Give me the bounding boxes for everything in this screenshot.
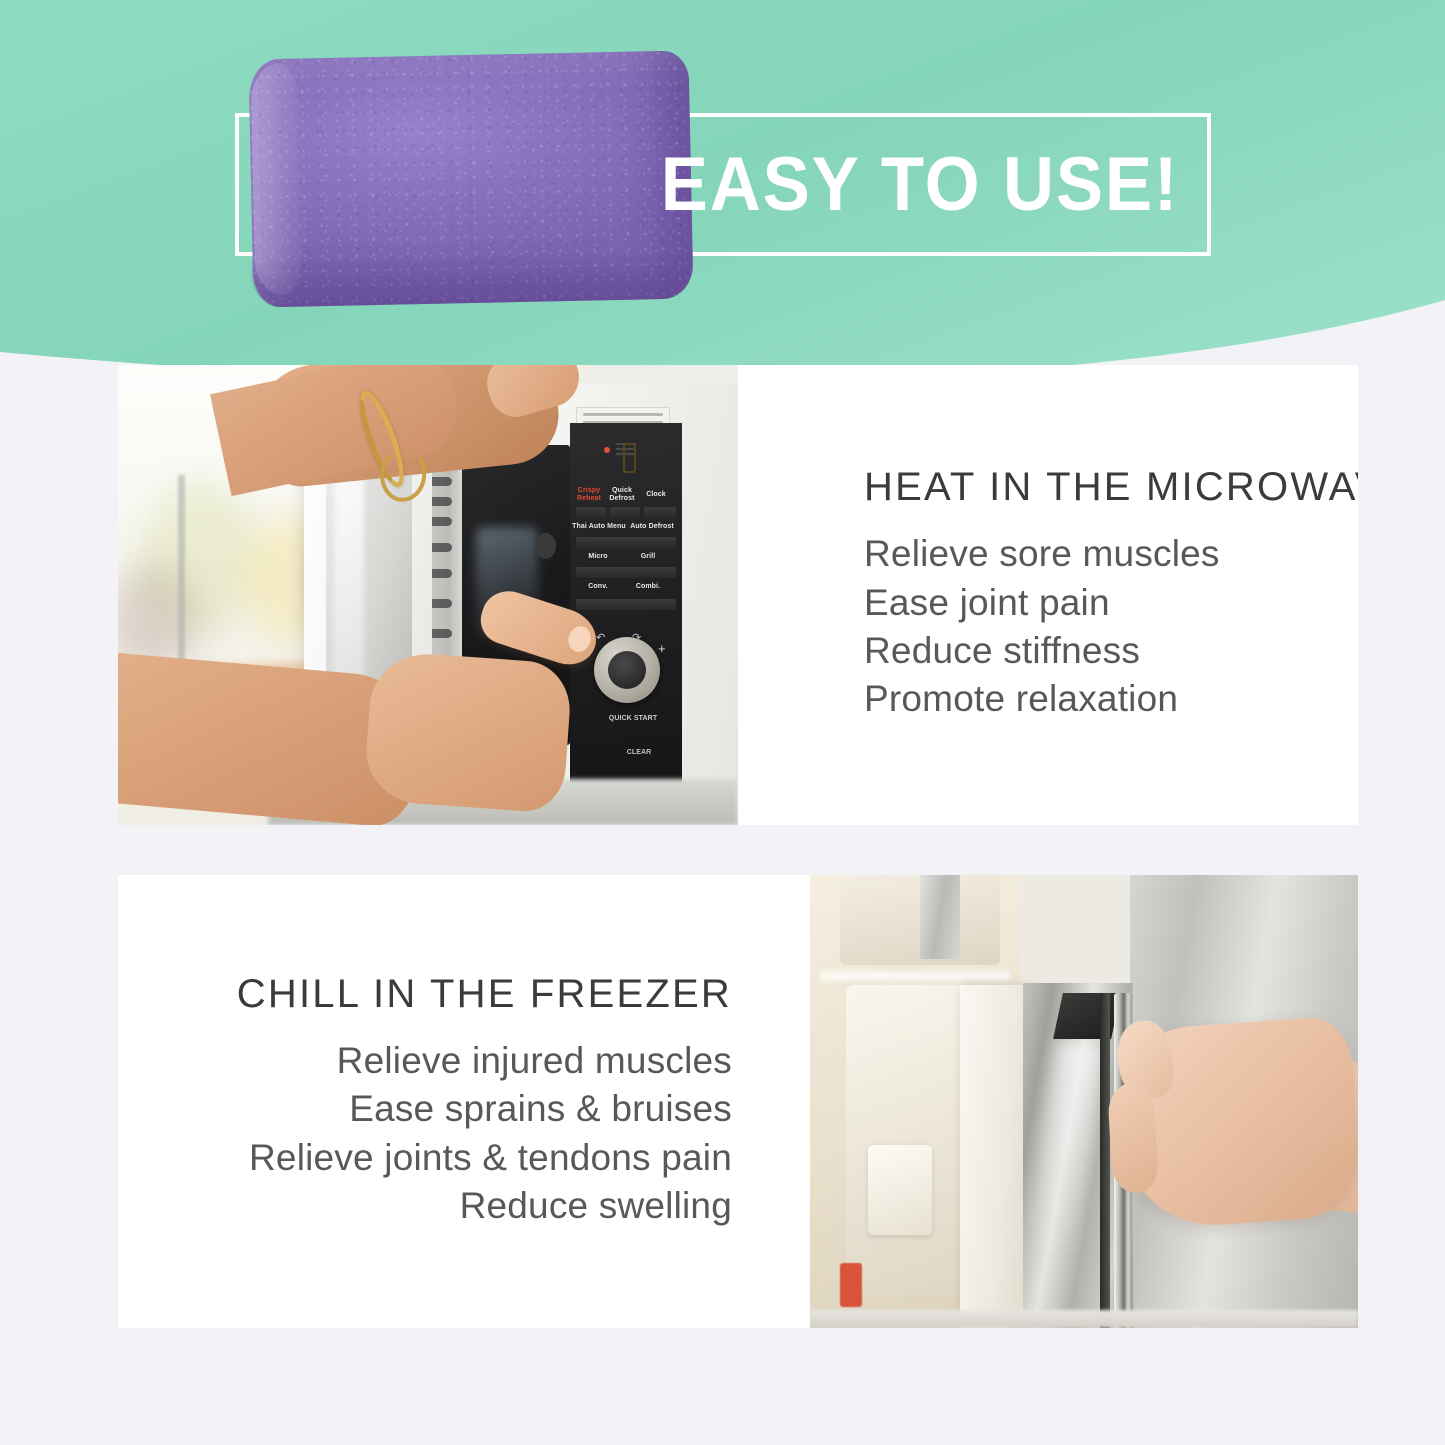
fridge-door-slab[interactable] [960, 985, 1030, 1328]
button-conv-label[interactable]: Conv. [578, 583, 618, 591]
button-clear-label[interactable]: CLEAR [614, 749, 664, 757]
list-item: Relieve injured muscles [249, 1037, 732, 1085]
list-item: Ease joint pain [864, 579, 1220, 627]
panel-freezer: CHILL IN THE FREEZER Relieve injured mus… [118, 875, 1358, 1328]
button-row-2[interactable] [576, 537, 676, 548]
button-combi-label[interactable]: Combi. [628, 583, 668, 591]
microwave-scene: Crispy Reheat Quick Defrost Clock Thai A… [118, 365, 738, 825]
dial-plus-icon[interactable]: + [658, 641, 666, 656]
microwave-photo: Crispy Reheat Quick Defrost Clock Thai A… [118, 365, 738, 825]
button-crispy-reheat-label[interactable]: Crispy Reheat [574, 487, 604, 503]
fridge-fingers [1107, 1082, 1159, 1194]
dial-ccw-arrow-icon: ↶ [596, 631, 605, 644]
button-row-4[interactable] [576, 599, 676, 610]
cavity-latch [536, 533, 556, 559]
fridge-floor-line [810, 1310, 1358, 1328]
button-row-1[interactable] [576, 507, 676, 518]
button-row-3[interactable] [576, 567, 676, 578]
fridge-door-edge [1100, 993, 1110, 1328]
list-item: Ease sprains & bruises [249, 1085, 732, 1133]
stainless-reflection [1029, 1041, 1104, 1255]
microwave-display [600, 441, 642, 477]
microwave-benefit-list: Relieve sore muscles Ease joint pain Red… [864, 530, 1220, 724]
microwave-text-block: HEAT IN THE MICROWAVE Relieve sore muscl… [738, 365, 1358, 825]
page-title: EASY TO USE! [660, 124, 1181, 244]
lower-hand [363, 650, 573, 814]
microwave-rotary-dial[interactable] [594, 637, 660, 703]
freezer-heading: CHILL IN THE FREEZER [237, 973, 732, 1015]
fridge-shelf [820, 971, 1010, 981]
list-item: Relieve joints & tendons pain [249, 1134, 732, 1182]
fridge-door-bin [868, 1145, 932, 1235]
panel-microwave: Crispy Reheat Quick Defrost Clock Thai A… [118, 365, 1358, 825]
freezer-text-block: CHILL IN THE FREEZER Relieve injured mus… [118, 875, 810, 1328]
refrigerator-photo [810, 875, 1358, 1328]
refrigerator-scene [810, 875, 1358, 1328]
product-infographic: EASY TO USE! [0, 0, 1445, 1445]
purple-fleece-pack-icon [251, 55, 691, 303]
button-micro-label[interactable]: Micro [578, 553, 618, 561]
freezer-benefit-list: Relieve injured muscles Ease sprains & b… [249, 1037, 732, 1231]
fridge-handle-bracket [1053, 993, 1121, 1039]
button-quick-start-label[interactable]: QUICK START [598, 715, 668, 723]
fingernail [565, 623, 594, 655]
button-quick-defrost-label[interactable]: Quick Defrost [606, 487, 638, 503]
microwave-control-panel[interactable]: Crispy Reheat Quick Defrost Clock Thai A… [570, 423, 682, 783]
microwave-heading: HEAT IN THE MICROWAVE [864, 466, 1358, 508]
pillow-seam-shadow [251, 246, 692, 307]
button-clock-label[interactable]: Clock [642, 491, 670, 499]
list-item: Reduce stiffness [864, 627, 1220, 675]
button-thai-auto-menu-label[interactable]: Thai Auto Menu [572, 523, 626, 531]
fridge-upper-metal-trim [920, 875, 960, 959]
list-item: Reduce swelling [249, 1182, 732, 1230]
button-grill-label[interactable]: Grill [628, 553, 668, 561]
list-item: Relieve sore muscles [864, 530, 1220, 578]
display-led-indicator [604, 447, 610, 453]
list-item: Promote relaxation [864, 675, 1220, 723]
display-digit-outline [623, 443, 636, 473]
fridge-red-item [840, 1263, 862, 1307]
button-auto-defrost-label[interactable]: Auto Defrost [628, 523, 676, 531]
